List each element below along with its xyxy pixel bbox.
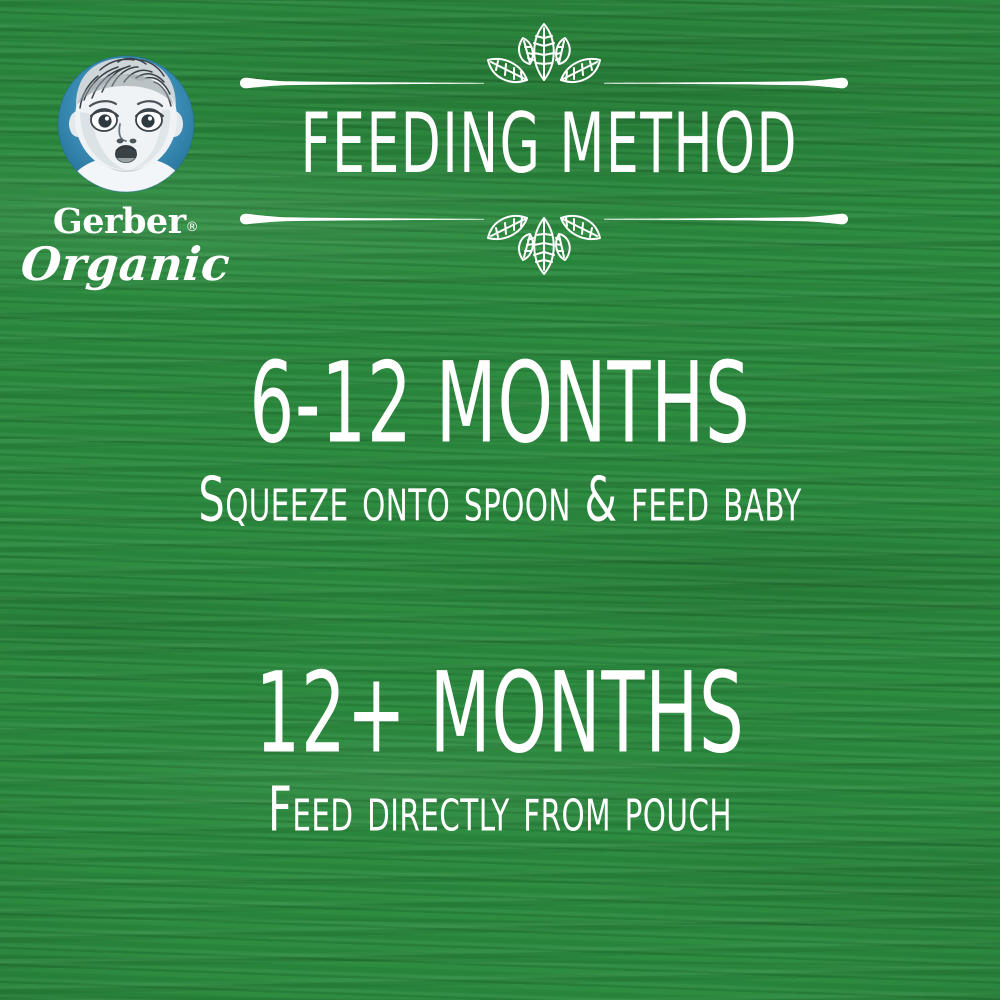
registered-trademark-icon: ®: [186, 220, 199, 235]
instruction-block-6-12-months: 6-12 MONTHS Squeeze onto spoon & feed ba…: [0, 348, 1000, 530]
feeding-direction-label: Feed directly from pouch: [80, 774, 920, 843]
brand-lockup: Gerber® Organic: [18, 48, 233, 288]
gerber-baby-head-icon: [50, 48, 202, 200]
feeding-method-panel: Gerber® Organic: [0, 0, 1000, 1000]
organic-script-wordmark: Organic: [16, 240, 235, 288]
instruction-block-12-plus-months: 12+ MONTHS Feed directly from pouch: [0, 658, 1000, 840]
feeding-direction-label: Squeeze onto spoon & feed baby: [80, 464, 920, 533]
age-range-label: 12+ MONTHS: [100, 650, 900, 778]
header-block: FEEDING METHOD: [232, 18, 856, 268]
age-range-label: 6-12 MONTHS: [100, 340, 900, 468]
gerber-wordmark: Gerber®: [18, 204, 233, 239]
page-title: FEEDING METHOD: [301, 86, 788, 202]
leaf-cluster-icon: [479, 194, 609, 280]
gerber-name: Gerber: [53, 201, 186, 242]
